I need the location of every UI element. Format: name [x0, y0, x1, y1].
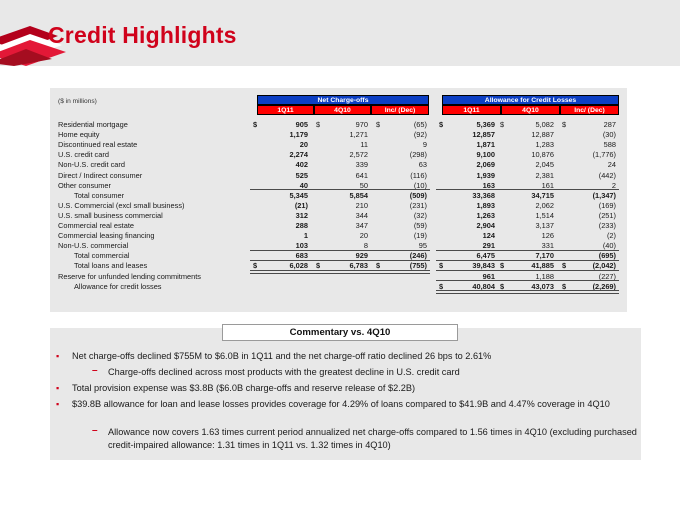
table-cell: (1,776) — [556, 150, 616, 159]
table-cell: 2,045 — [494, 160, 554, 169]
table-cell: 288 — [248, 221, 308, 230]
table-cell: 2,069 — [435, 160, 495, 169]
table-cell: 124 — [435, 231, 495, 240]
credit-metrics-table: ($ in millions) Net Charge-offs Allowanc… — [50, 88, 627, 312]
column-header-acl-1q11: 1Q11 — [442, 105, 501, 115]
table-cell: (116) — [367, 171, 427, 180]
table-cell: (1,347) — [556, 191, 616, 200]
commentary-bullet: ▪Total provision expense was $3.8B ($6.0… — [72, 382, 652, 395]
commentary-title: Commentary vs. 4Q10 — [222, 324, 458, 341]
commentary-bullet-text: $39.8B allowance for loan and lease loss… — [72, 398, 640, 411]
table-cell: 10,876 — [494, 150, 554, 159]
table-rule — [436, 280, 619, 281]
units-label: ($ in millions) — [58, 98, 97, 105]
table-cell: 402 — [248, 160, 308, 169]
table-cell: (19) — [367, 231, 427, 240]
table-rule — [436, 260, 619, 261]
column-header-acl-4q10: 4Q10 — [501, 105, 560, 115]
table-cell: 20 — [308, 231, 368, 240]
bullet-marker-icon: ▪ — [56, 398, 59, 411]
table-cell: 11 — [308, 140, 368, 149]
table-rule — [250, 189, 430, 190]
commentary-bullet: ▪Net charge-offs declined $755M to $6.0B… — [72, 350, 652, 363]
table-row-label: U.S. small business commercial — [58, 211, 163, 220]
dash-marker-icon: – — [92, 365, 98, 378]
table-cell: 1 — [248, 231, 308, 240]
table-cell: (92) — [367, 130, 427, 139]
table-cell: (169) — [556, 201, 616, 210]
group-header-net-charge-offs: Net Charge-offs — [257, 95, 429, 105]
page-header: Credit Highlights — [0, 0, 680, 66]
currency-symbol: $ — [316, 120, 320, 129]
table-cell: 1,871 — [435, 140, 495, 149]
currency-symbol: $ — [500, 120, 504, 129]
commentary-bullet-text: Total provision expense was $3.8B ($6.0B… — [72, 382, 652, 395]
table-cell: (21) — [248, 201, 308, 210]
table-cell: (59) — [367, 221, 427, 230]
table-cell: 210 — [308, 201, 368, 210]
page-title: Credit Highlights — [48, 22, 237, 49]
table-row-label: Commercial real estate — [58, 221, 134, 230]
currency-symbol: $ — [253, 120, 257, 129]
table-cell: 588 — [556, 140, 616, 149]
table-cell: 1,271 — [308, 130, 368, 139]
table-cell: 2,572 — [308, 150, 368, 159]
table-cell: 9,100 — [435, 150, 495, 159]
commentary-bullet-text: Net charge-offs declined $755M to $6.0B … — [72, 350, 652, 363]
table-cell: (2) — [556, 231, 616, 240]
column-header-acl-incdec: Inc/ (Dec) — [560, 105, 619, 115]
table-cell: 1,939 — [435, 171, 495, 180]
table-cell: 1,263 — [435, 211, 495, 220]
table-cell: 525 — [248, 171, 308, 180]
table-cell: 12,887 — [494, 130, 554, 139]
table-cell: 33,368 — [435, 191, 495, 200]
column-header-nco-4q10: 4Q10 — [314, 105, 371, 115]
table-row-label: Total loans and leases — [74, 261, 147, 270]
table-cell: 641 — [308, 171, 368, 180]
currency-symbol: $ — [376, 120, 380, 129]
table-row-label: Non-U.S. commercial — [58, 241, 128, 250]
table-rule-nco-final — [250, 270, 430, 274]
table-cell: 2,904 — [435, 221, 495, 230]
table-cell: 20 — [248, 140, 308, 149]
table-cell: (32) — [367, 211, 427, 220]
commentary-bullet: –Allowance now covers 1.63 times current… — [108, 426, 653, 451]
currency-symbol: $ — [562, 120, 566, 129]
table-cell: 1,514 — [494, 211, 554, 220]
currency-symbol: $ — [439, 120, 443, 129]
table-cell: 1,179 — [248, 130, 308, 139]
bullet-marker-icon: ▪ — [56, 382, 59, 395]
table-cell: 9 — [367, 140, 427, 149]
table-row-label: U.S. Commercial (excl small business) — [58, 201, 185, 210]
table-row-label: Residential mortgage — [58, 120, 128, 129]
table-cell: 3,137 — [494, 221, 554, 230]
table-cell: 312 — [248, 211, 308, 220]
table-rule — [436, 250, 619, 251]
table-cell: 347 — [308, 221, 368, 230]
table-row-label: Commercial leasing financing — [58, 231, 155, 240]
table-cell: (231) — [367, 201, 427, 210]
table-row-label: Non-U.S. credit card — [58, 160, 125, 169]
table-cell: (298) — [367, 150, 427, 159]
table-row-label: Discontinued real estate — [58, 140, 137, 149]
table-row-label: Total commercial — [74, 251, 129, 260]
table-cell: (442) — [556, 171, 616, 180]
table-row-label: Reserve for unfunded lending commitments — [58, 272, 201, 281]
table-cell: (251) — [556, 211, 616, 220]
table-row-label: Total consumer — [74, 191, 124, 200]
commentary-bullet: –Charge-offs declined across most produc… — [108, 366, 653, 379]
table-row-label: Allowance for credit losses — [74, 282, 162, 291]
table-cell: (30) — [556, 130, 616, 139]
commentary-bullet-text: Charge-offs declined across most product… — [108, 366, 653, 379]
table-cell: 5,369 — [435, 120, 495, 129]
bullet-marker-icon: ▪ — [56, 350, 59, 363]
table-rule — [436, 189, 619, 190]
table-cell: 5,345 — [248, 191, 308, 200]
group-header-allowance-for-credit-losses: Allowance for Credit Losses — [442, 95, 619, 105]
table-cell: 2,062 — [494, 201, 554, 210]
table-row-label: Home equity — [58, 130, 100, 139]
dash-marker-icon: – — [92, 425, 98, 438]
table-rule — [250, 260, 430, 261]
table-cell: 344 — [308, 211, 368, 220]
table-rule — [250, 250, 430, 251]
column-header-nco-incdec: Inc/ (Dec) — [371, 105, 429, 115]
table-cell: (509) — [367, 191, 427, 200]
table-cell: 2,381 — [494, 171, 554, 180]
table-cell: 63 — [367, 160, 427, 169]
table-row-label: Other consumer — [58, 181, 111, 190]
table-cell: 5,854 — [308, 191, 368, 200]
table-cell: 1,283 — [494, 140, 554, 149]
commentary-bullet: ▪$39.8B allowance for loan and lease los… — [72, 398, 640, 411]
table-cell: 126 — [494, 231, 554, 240]
table-cell: (233) — [556, 221, 616, 230]
table-row-label: Direct / Indirect consumer — [58, 171, 142, 180]
table-cell: 34,715 — [494, 191, 554, 200]
table-cell: 12,857 — [435, 130, 495, 139]
table-rule-final — [436, 290, 619, 294]
table-cell: 24 — [556, 160, 616, 169]
commentary-bullet-text: Allowance now covers 1.63 times current … — [108, 426, 653, 451]
table-cell: 2,274 — [248, 150, 308, 159]
table-rule — [436, 270, 619, 271]
column-header-nco-1q11: 1Q11 — [257, 105, 314, 115]
table-row-label: U.S. credit card — [58, 150, 109, 159]
table-cell: 339 — [308, 160, 368, 169]
table-cell: 1,893 — [435, 201, 495, 210]
